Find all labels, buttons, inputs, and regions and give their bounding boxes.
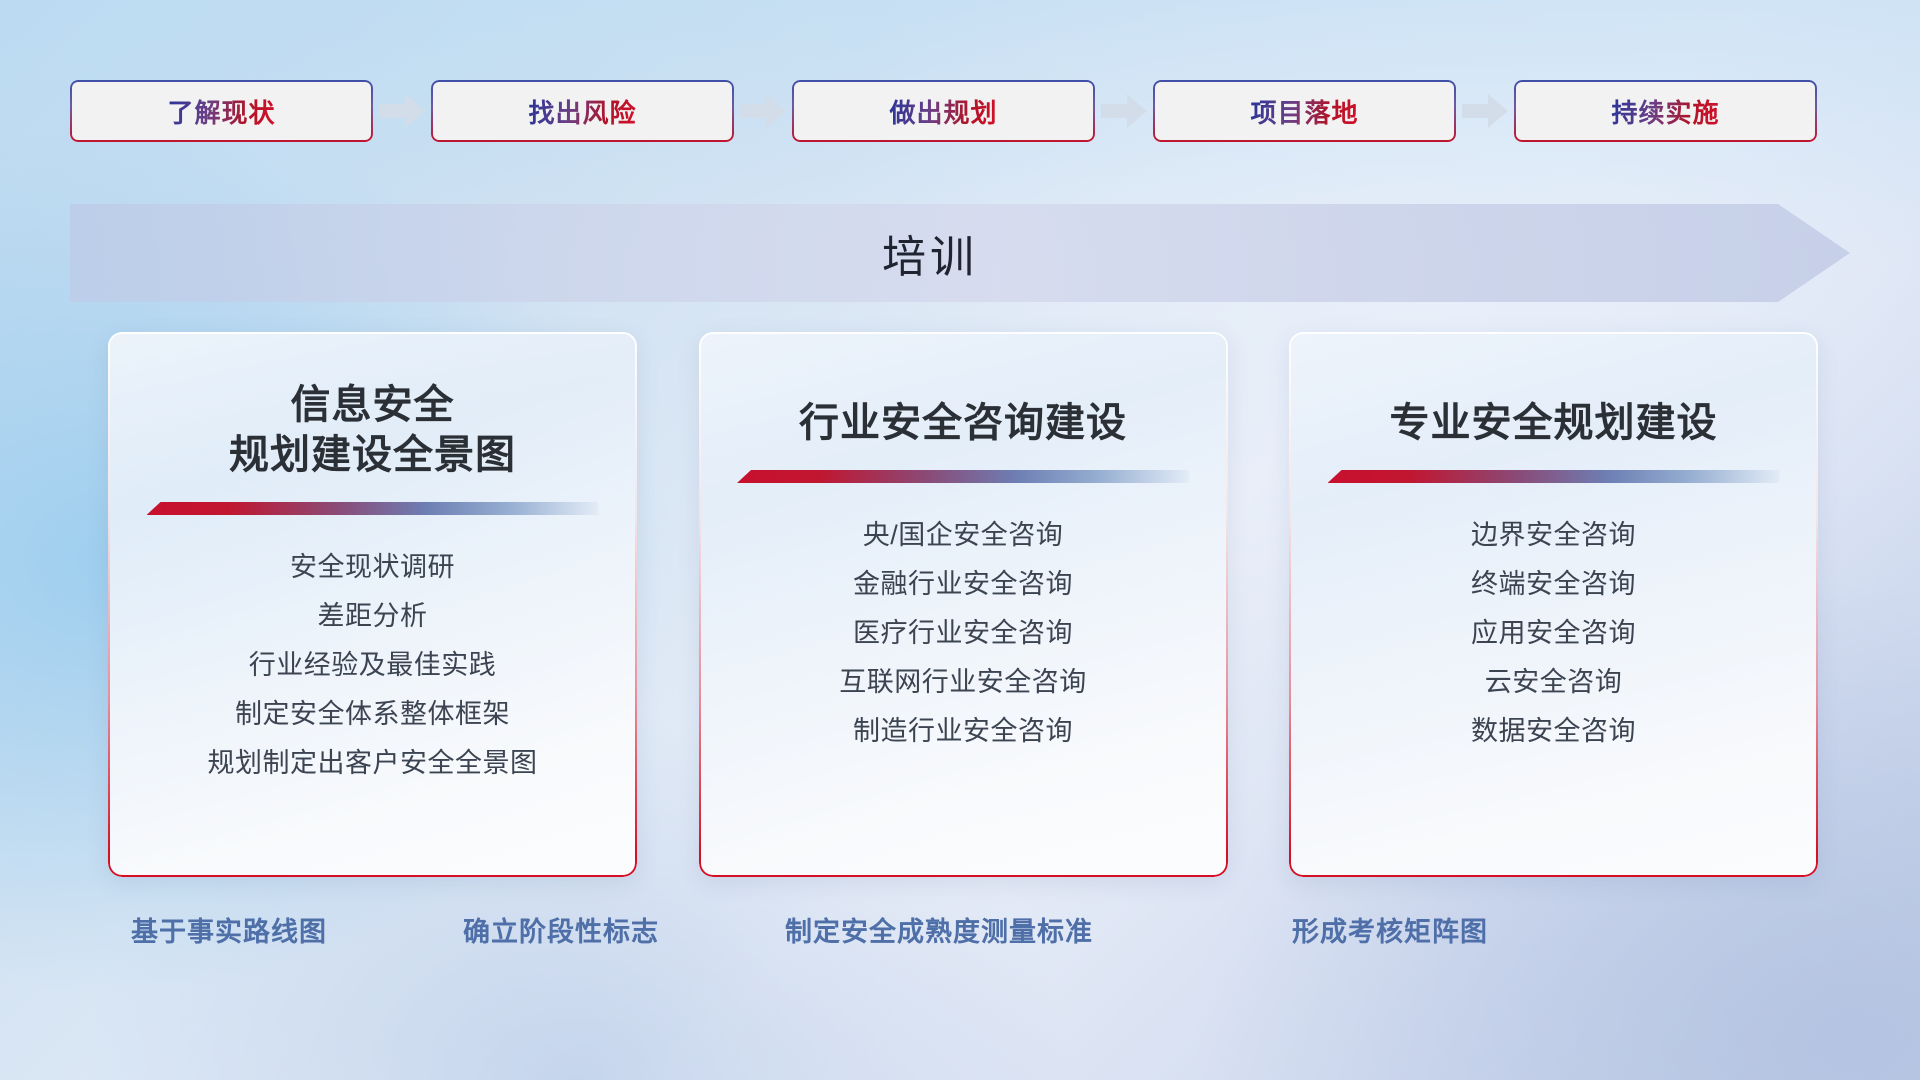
flow-step-3[interactable]: 做出规划 — [792, 80, 1095, 142]
cards-row: 信息安全 规划建设全景图 安全现状调研 差距分析 行业经验及最佳实践 制定安全体… — [108, 332, 1818, 877]
flow-step-label: 找出风险 — [528, 93, 636, 130]
card-item-list: 央/国企安全咨询 金融行业安全咨询 医疗行业安全咨询 互联网行业安全咨询 制造行… — [729, 511, 1198, 756]
card-professional-security-planning[interactable]: 专业安全规划建设 边界安全咨询 终端安全咨询 应用安全咨询 云安全咨询 数据安全… — [1289, 332, 1818, 877]
list-item: 差距分析 — [138, 592, 607, 641]
list-item: 互联网行业安全咨询 — [729, 658, 1198, 707]
card-information-security-blueprint[interactable]: 信息安全 规划建设全景图 安全现状调研 差距分析 行业经验及最佳实践 制定安全体… — [108, 332, 637, 877]
caption-roadmap: 基于事实路线图 — [131, 910, 327, 949]
arrow-right-icon — [373, 80, 431, 142]
flow-step-label: 项目落地 — [1250, 93, 1358, 130]
flow-step-5[interactable]: 持续实施 — [1514, 80, 1817, 142]
card-industry-security-consulting[interactable]: 行业安全咨询建设 央/国企安全咨询 金融行业安全咨询 医疗行业安全咨询 互联网行… — [699, 332, 1228, 877]
card-item-list: 安全现状调研 差距分析 行业经验及最佳实践 制定安全体系整体框架 规划制定出客户… — [138, 543, 607, 788]
card-title: 专业安全规划建设 — [1390, 398, 1718, 448]
list-item: 数据安全咨询 — [1319, 707, 1788, 756]
training-banner: 培训 — [70, 204, 1850, 302]
list-item: 制造行业安全咨询 — [729, 707, 1198, 756]
arrow-right-icon — [1095, 80, 1153, 142]
list-item: 应用安全咨询 — [1319, 609, 1788, 658]
card-title: 信息安全 规划建设全景图 — [229, 380, 516, 480]
flow-step-2[interactable]: 找出风险 — [431, 80, 734, 142]
caption-assessment-matrix: 形成考核矩阵图 — [1292, 910, 1488, 949]
caption-milestones: 确立阶段性标志 — [463, 910, 659, 949]
list-item: 金融行业安全咨询 — [729, 560, 1198, 609]
list-item: 安全现状调研 — [138, 543, 607, 592]
list-item: 行业经验及最佳实践 — [138, 641, 607, 690]
process-flow: 了解现状 找出风险 做出规划 项目落地 持续实施 — [70, 80, 1860, 142]
flow-step-1[interactable]: 了解现状 — [70, 80, 373, 142]
list-item: 边界安全咨询 — [1319, 511, 1788, 560]
footer-captions: 基于事实路线图 确立阶段性标志 制定安全成熟度测量标准 形成考核矩阵图 — [0, 910, 1920, 962]
list-item: 规划制定出客户安全全景图 — [138, 739, 607, 788]
arrow-right-icon — [734, 80, 792, 142]
flow-step-label: 了解现状 — [167, 93, 275, 130]
list-item: 制定安全体系整体框架 — [138, 690, 607, 739]
caption-maturity-standard: 制定安全成熟度测量标准 — [785, 910, 1093, 949]
flow-step-label: 做出规划 — [889, 93, 997, 130]
card-title: 行业安全咨询建设 — [799, 398, 1127, 448]
list-item: 央/国企安全咨询 — [729, 511, 1198, 560]
flow-step-4[interactable]: 项目落地 — [1153, 80, 1456, 142]
card-divider — [1328, 470, 1780, 483]
list-item: 终端安全咨询 — [1319, 560, 1788, 609]
flow-step-label: 持续实施 — [1611, 93, 1719, 130]
card-divider — [147, 502, 599, 515]
list-item: 云安全咨询 — [1319, 658, 1788, 707]
list-item: 医疗行业安全咨询 — [729, 609, 1198, 658]
arrow-right-icon — [1456, 80, 1514, 142]
card-item-list: 边界安全咨询 终端安全咨询 应用安全咨询 云安全咨询 数据安全咨询 — [1319, 511, 1788, 756]
card-divider — [737, 470, 1189, 483]
banner-title: 培训 — [70, 204, 1850, 302]
